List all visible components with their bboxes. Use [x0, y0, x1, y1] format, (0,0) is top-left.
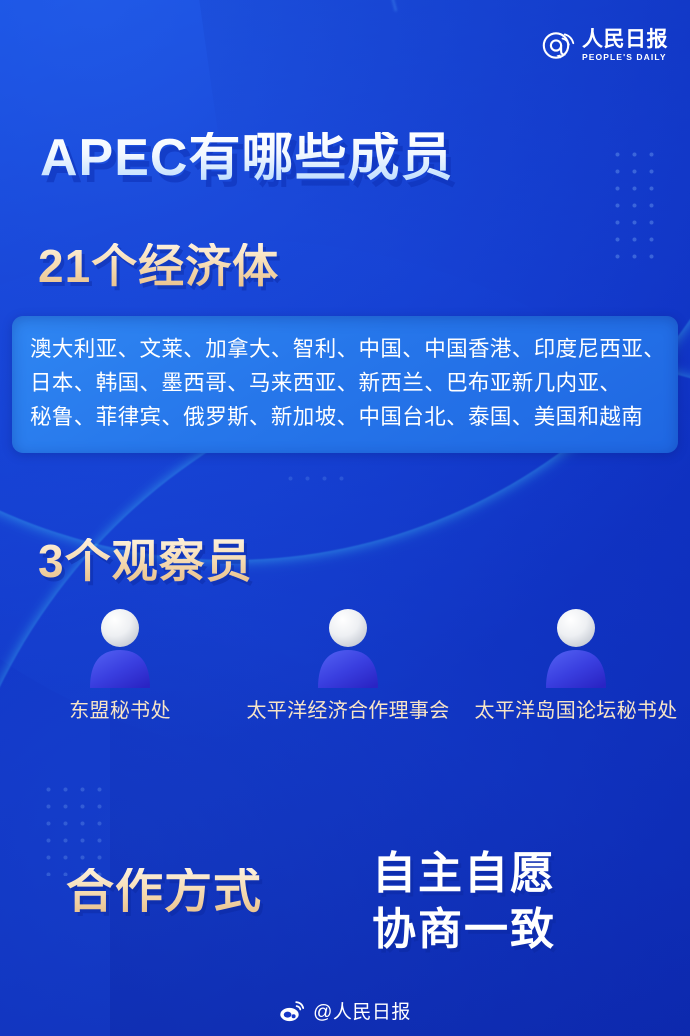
- poster-canvas: 人民日报 PEOPLE'S DAILY APEC有哪些成员 21个经济体 澳大利…: [0, 0, 690, 1036]
- at-sign-icon: [541, 28, 575, 62]
- brand-name-cn: 人民日报: [582, 29, 668, 50]
- person-avatar-icon: [539, 606, 613, 688]
- cooperation-value: 自主自愿: [372, 852, 556, 896]
- observers-heading: 3个观察员: [38, 538, 253, 584]
- observer-item: 东盟秘书处: [0, 606, 234, 724]
- economies-line: 日本、韩国、墨西哥、马来西亚、新西兰、巴布亚新几内亚、: [30, 367, 660, 401]
- brand-name-en: PEOPLE'S DAILY: [582, 53, 668, 62]
- observer-item: 太平洋岛国论坛秘书处: [462, 606, 690, 724]
- economies-line: 秘鲁、菲律宾、俄罗斯、新加坡、中国台北、泰国、美国和越南: [30, 401, 660, 435]
- observers-group: 东盟秘书处: [0, 606, 690, 724]
- person-avatar-icon: [83, 606, 157, 688]
- cooperation-value: 协商一致: [372, 908, 556, 952]
- observer-label: 东盟秘书处: [6, 698, 234, 724]
- weibo-icon: [279, 1000, 305, 1022]
- brand-text: 人民日报 PEOPLE'S DAILY: [582, 29, 668, 62]
- footer-handle: @人民日报: [313, 997, 411, 1024]
- dot-grid-left: [40, 781, 112, 876]
- economies-list-card: 澳大利亚、文莱、加拿大、智利、中国、中国香港、印度尼西亚、 日本、韩国、墨西哥、…: [12, 316, 678, 453]
- page-title: APEC有哪些成员: [40, 132, 453, 184]
- footer-attribution: @人民日报: [0, 997, 690, 1024]
- cooperation-heading: 合作方式: [66, 868, 262, 916]
- economies-heading: 21个经济体: [38, 243, 279, 289]
- brand-logo: 人民日报 PEOPLE'S DAILY: [541, 28, 668, 62]
- person-avatar-icon: [311, 606, 385, 688]
- observer-item: 太平洋经济合作理事会: [234, 606, 462, 724]
- observer-label: 太平洋经济合作理事会: [234, 698, 462, 724]
- dot-grid-right: [609, 146, 664, 268]
- economies-line: 澳大利亚、文莱、加拿大、智利、中国、中国香港、印度尼西亚、: [30, 333, 660, 367]
- observer-label: 太平洋岛国论坛秘书处: [462, 698, 690, 724]
- cooperation-values: 自主自愿 协商一致: [372, 852, 556, 952]
- dot-grid-middle: [282, 470, 344, 488]
